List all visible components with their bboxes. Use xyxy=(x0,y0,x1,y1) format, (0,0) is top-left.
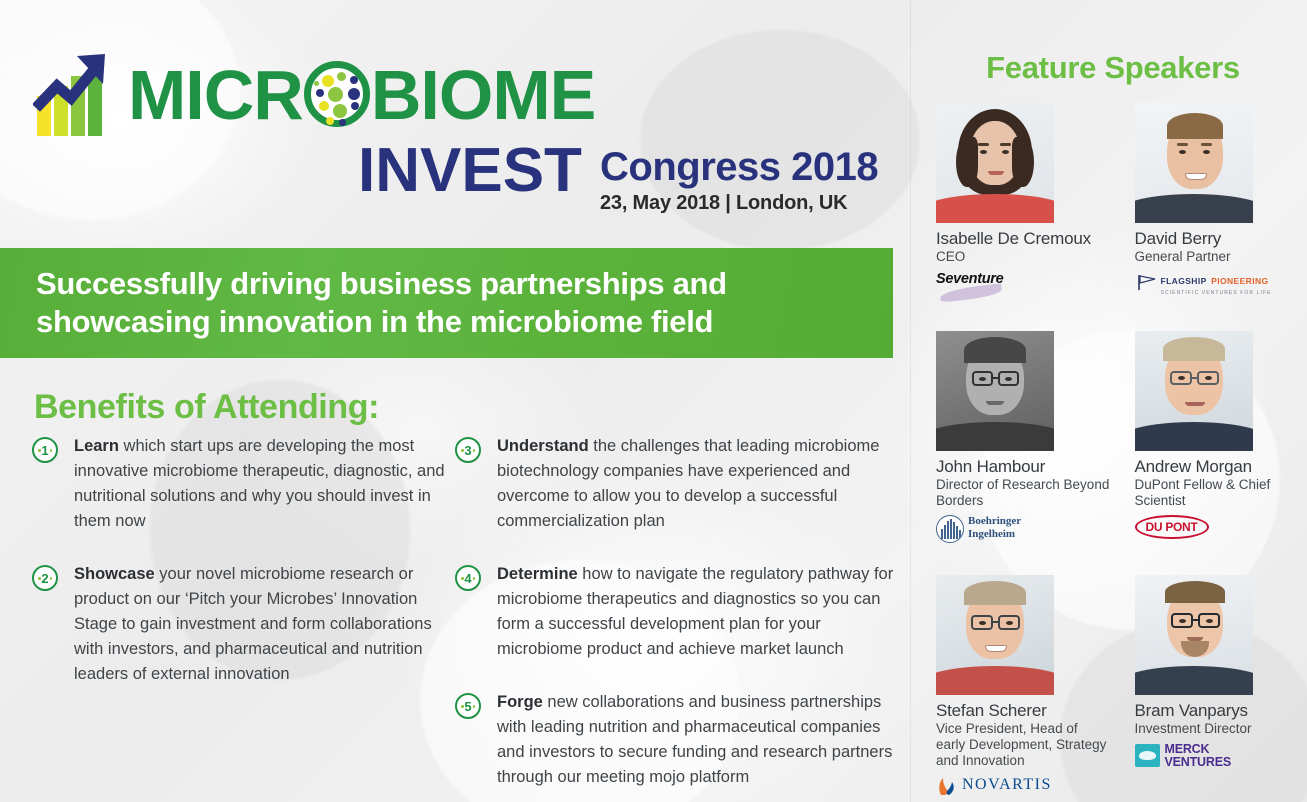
benefit-lead: Determine xyxy=(497,565,578,583)
benefit-text: Determine how to navigate the regulatory… xyxy=(497,562,900,662)
speakers-grid: Isabelle De Cremoux CEO Seventure xyxy=(911,103,1307,802)
benefit-lead: Understand xyxy=(497,437,589,455)
speakers-panel: Feature Speakers xyxy=(910,0,1307,802)
speaker-role: Director of Research Beyond Borders xyxy=(936,477,1110,509)
dupont-logo: DU PONT xyxy=(1135,515,1307,547)
dupont-logo-text: DU PONT xyxy=(1135,515,1209,539)
benefits-title: Benefits of Attending: xyxy=(34,388,379,427)
benefit-text: Understand the challenges that leading m… xyxy=(497,434,900,534)
boehringer-mark-icon xyxy=(936,515,964,543)
boehringer-word1: Boehringer xyxy=(968,515,1110,528)
left-panel: MICR BIOME INVEST Congress 2018 23, xyxy=(0,0,910,802)
headline-banner: Successfully driving business partnershi… xyxy=(0,248,893,358)
flagship-mark-icon xyxy=(1137,273,1157,291)
speaker-photo xyxy=(1135,331,1253,451)
speaker-card[interactable]: Stefan Scherer Vice President, Head of e… xyxy=(936,575,1110,802)
benefit-text: Showcase your novel microbiome research … xyxy=(74,562,447,687)
speakers-row: John Hambour Director of Research Beyond… xyxy=(911,331,1307,547)
speaker-card[interactable]: Isabelle De Cremoux CEO Seventure xyxy=(936,103,1110,303)
speaker-role: Investment Director xyxy=(1135,721,1307,737)
speakers-title: Feature Speakers xyxy=(933,50,1293,86)
benefit-number-badge: 1 xyxy=(32,437,58,463)
seventure-logo-text: Seventure xyxy=(936,271,1110,287)
benefit-item: 3 Understand the challenges that leading… xyxy=(455,434,900,534)
merck-word1: MERCK xyxy=(1165,743,1307,756)
speaker-name: Bram Vanparys xyxy=(1135,701,1307,720)
speaker-photo xyxy=(1135,103,1253,223)
speaker-role: DuPont Fellow & Chief Scientist xyxy=(1135,477,1307,509)
speaker-card[interactable]: John Hambour Director of Research Beyond… xyxy=(936,331,1110,547)
novartis-mark-icon xyxy=(936,777,957,797)
speaker-name: Isabelle De Cremoux xyxy=(936,229,1110,248)
benefit-item: 2 Showcase your novel microbiome researc… xyxy=(32,562,447,687)
speaker-photo xyxy=(936,103,1054,223)
speaker-name: David Berry xyxy=(1135,229,1307,248)
speaker-photo xyxy=(936,575,1054,695)
benefit-body: which start ups are developing the most … xyxy=(74,437,445,530)
speakers-row: Stefan Scherer Vice President, Head of e… xyxy=(911,575,1307,802)
benefit-item: 4 Determine how to navigate the regulato… xyxy=(455,562,900,662)
speaker-role: General Partner xyxy=(1135,249,1307,265)
boehringer-ingelheim-logo: Boehringer Ingelheim xyxy=(936,515,1110,547)
speaker-name: Andrew Morgan xyxy=(1135,457,1307,476)
flagship-tagline: SCIENTIFIC VENTURES FOR LIFE xyxy=(1161,290,1307,296)
boehringer-word2: Ingelheim xyxy=(968,528,1110,541)
benefit-body: new collaborations and business partners… xyxy=(497,693,892,786)
seventure-logo: Seventure xyxy=(936,271,1110,303)
microbe-circle-icon xyxy=(304,61,370,127)
benefits-column-right: 3 Understand the challenges that leading… xyxy=(455,434,900,802)
invest-wordmark: INVEST xyxy=(358,140,582,202)
banner-headline: Successfully driving business partnershi… xyxy=(0,265,893,341)
benefit-number-badge: 5 xyxy=(455,693,481,719)
speaker-name: Stefan Scherer xyxy=(936,701,1110,720)
wordmark-part2: BIOME xyxy=(371,52,595,138)
growth-bars-arrow-icon xyxy=(33,50,121,138)
merck-mark-icon xyxy=(1135,744,1160,767)
congress-title: Congress 2018 xyxy=(600,145,878,190)
benefit-lead: Learn xyxy=(74,437,119,455)
flagship-word2: PIONEERING xyxy=(1211,276,1268,286)
benefit-item: 1 Learn which start ups are developing t… xyxy=(32,434,447,534)
benefit-lead: Showcase xyxy=(74,565,155,583)
benefit-text: Forge new collaborations and business pa… xyxy=(497,690,900,790)
speaker-name: John Hambour xyxy=(936,457,1110,476)
benefit-lead: Forge xyxy=(497,693,543,711)
benefits-column-left: 1 Learn which start ups are developing t… xyxy=(32,434,447,715)
speaker-card[interactable]: Andrew Morgan DuPont Fellow & Chief Scie… xyxy=(1135,331,1307,547)
wordmark-part1: MICR xyxy=(128,52,303,138)
novartis-logo: NOVARTIS xyxy=(936,775,1110,802)
speakers-row: Isabelle De Cremoux CEO Seventure xyxy=(911,103,1307,303)
flagship-pioneering-logo: FLAGSHIP PIONEERING SCIENTIFIC VENTURES … xyxy=(1135,271,1307,303)
speaker-photo xyxy=(936,331,1054,451)
speaker-card[interactable]: David Berry General Partner FLAGSHIP PIO… xyxy=(1135,103,1307,303)
benefit-number-badge: 3 xyxy=(455,437,481,463)
event-date-location: 23, May 2018 | London, UK xyxy=(600,192,847,215)
brand-logo: MICR BIOME xyxy=(33,48,893,143)
speaker-photo xyxy=(1135,575,1253,695)
benefit-number-badge: 2 xyxy=(32,565,58,591)
speaker-role: CEO xyxy=(936,249,1110,265)
benefit-item: 5 Forge new collaborations and business … xyxy=(455,690,900,790)
merck-ventures-logo: MERCK VENTURES xyxy=(1135,743,1307,775)
speaker-card[interactable]: Bram Vanparys Investment Director MERCK … xyxy=(1135,575,1307,802)
benefit-text: Learn which start ups are developing the… xyxy=(74,434,447,534)
merck-word2: VENTURES xyxy=(1165,756,1307,769)
brochure-page: MICR BIOME INVEST Congress 2018 23, xyxy=(0,0,1307,802)
flagship-word1: FLAGSHIP xyxy=(1161,276,1207,286)
speaker-role: Vice President, Head of early Developmen… xyxy=(936,721,1110,769)
novartis-logo-text: NOVARTIS xyxy=(962,775,1110,795)
brand-wordmark: MICR BIOME xyxy=(128,52,595,138)
benefit-number-badge: 4 xyxy=(455,565,481,591)
